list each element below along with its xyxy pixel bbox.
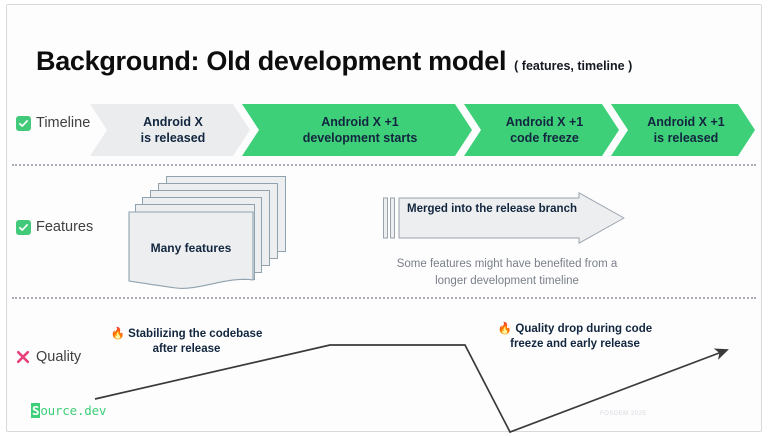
title-main-text: Background: Old development model: [36, 46, 506, 77]
fire-icon: 🔥: [111, 328, 125, 340]
quality-annotation-2: 🔥 Quality drop during code freeze and ea…: [480, 322, 670, 352]
timeline-chevron-group: Android X is released Android X +1 devel…: [90, 104, 755, 156]
arrow-body: [399, 193, 624, 243]
feature-stack-label: Many features: [128, 241, 254, 255]
title-subtitle-text: ( features, timeline ): [514, 59, 632, 73]
timeline-step-3-text: Android X +1 code freeze: [496, 114, 587, 146]
arrow-tail-stripe: [384, 198, 388, 238]
x-icon: [14, 348, 31, 365]
row-label-timeline-text: Timeline: [36, 115, 90, 131]
timeline-step-1-line2: is released: [141, 131, 206, 145]
section-divider-top: [12, 164, 756, 166]
slide-watermark: FOSDEM 2025: [600, 411, 646, 417]
quality-annotation-1: 🔥 Stabilizing the codebase after release: [104, 327, 269, 357]
quality-annotation-2-text: Quality drop during code freeze and earl…: [510, 323, 652, 350]
row-label-features: Features: [16, 219, 93, 235]
timeline-step-2[interactable]: Android X +1 development starts: [242, 104, 472, 156]
timeline-step-3-line1: Android X +1: [506, 115, 583, 129]
timeline-step-3[interactable]: Android X +1 code freeze: [464, 104, 619, 156]
arrow-tail-stripe: [391, 198, 395, 238]
row-label-features-text: Features: [36, 219, 93, 235]
logo-text: ource.dev: [40, 403, 106, 418]
quality-annotation-1-text: Stabilizing the codebase after release: [128, 328, 262, 355]
timeline-step-1-text: Android X is released: [131, 114, 210, 146]
timeline-step-4-text: Android X +1 is released: [637, 114, 728, 146]
section-divider-bottom: [12, 297, 756, 299]
merge-arrow-label: Merged into the release branch: [407, 202, 577, 217]
slide-canvas: Background: Old development model ( feat…: [0, 0, 768, 436]
row-label-timeline: Timeline: [16, 115, 90, 131]
merge-arrow: Merged into the release branch: [383, 192, 625, 244]
timeline-step-2-text: Android X +1 development starts: [293, 114, 422, 146]
source-dev-logo: Source.dev: [31, 403, 106, 418]
check-icon: [16, 220, 31, 235]
row-label-quality: Quality: [14, 348, 81, 365]
timeline-step-4-line1: Android X +1: [647, 115, 724, 129]
feature-card-front: Many features: [128, 211, 254, 289]
timeline-step-3-line2: code freeze: [510, 131, 579, 145]
timeline-step-1[interactable]: Android X is released: [90, 104, 250, 156]
fire-icon: 🔥: [498, 323, 512, 335]
timeline-step-2-line1: Android X +1: [321, 115, 398, 129]
timeline-step-1-line1: Android X: [143, 115, 203, 129]
slide-title: Background: Old development model ( feat…: [36, 46, 632, 77]
feature-card-stack: Many features: [128, 176, 328, 288]
timeline-step-4-line2: is released: [654, 131, 719, 145]
timeline-step-2-line2: development starts: [303, 131, 418, 145]
row-label-quality-text: Quality: [36, 349, 81, 365]
check-icon: [16, 116, 31, 131]
features-caption: Some features might have benefited from …: [392, 256, 622, 289]
timeline-step-4[interactable]: Android X +1 is released: [611, 104, 755, 156]
logo-initial: S: [31, 403, 40, 418]
